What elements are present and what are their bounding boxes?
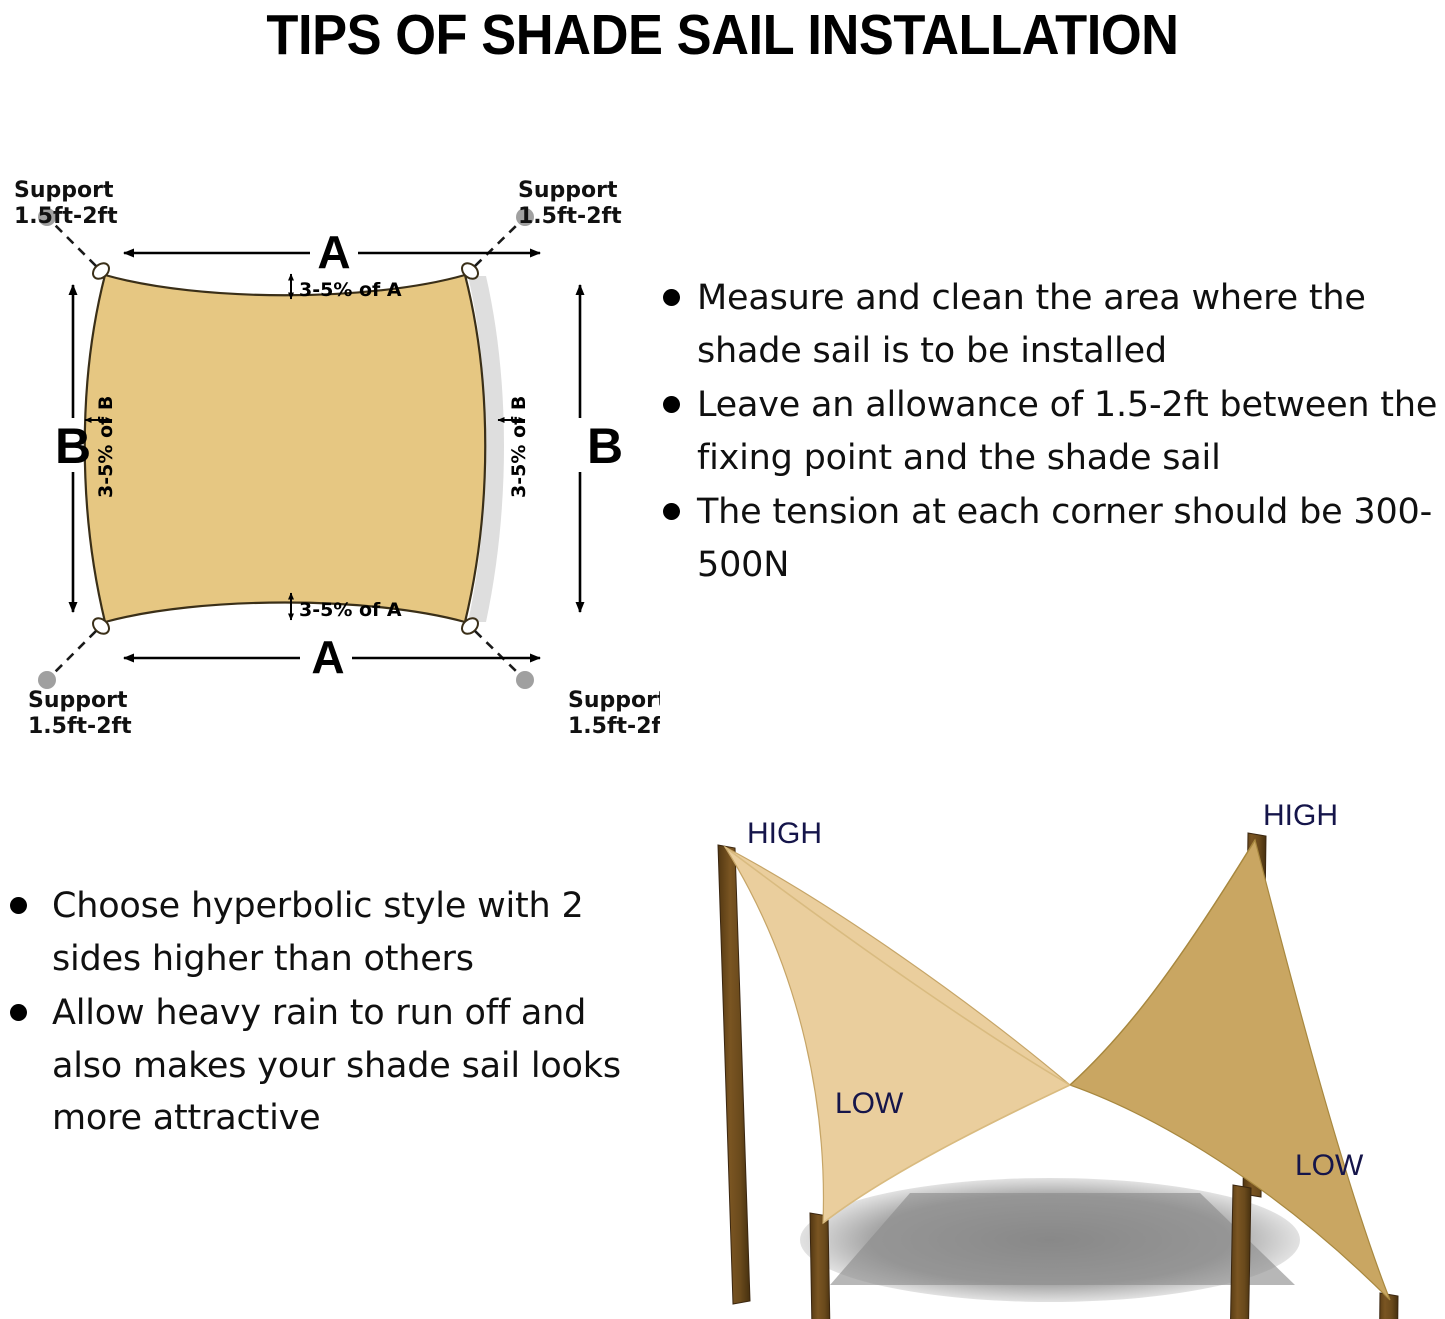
page-title: TIPS OF SHADE SAIL INSTALLATION: [58, 2, 1387, 68]
support-label-top-left-line2: 1.5ft-2ft: [14, 204, 118, 229]
post-mid-right: [1229, 1185, 1251, 1319]
dimension-label-b-left: B: [55, 418, 91, 474]
bullet-dot-icon: [10, 1004, 27, 1021]
list-item: Allow heavy rain to run off and also mak…: [0, 987, 625, 1145]
bullet-dot-icon: [663, 503, 680, 520]
sail-panel-front: [725, 847, 1070, 1223]
support-label-bottom-right-line1: Support: [568, 688, 660, 713]
rectangular-sail-diagram: A A B B 3-5% of A: [0, 150, 660, 740]
list-item-text: Choose hyperbolic style with 2 sides hig…: [52, 886, 584, 979]
tolerance-top: 3-5% of A: [291, 274, 402, 301]
support-label-top-right-line2: 1.5ft-2ft: [518, 204, 622, 229]
list-item: The tension at each corner should be 300…: [645, 486, 1445, 591]
list-item: Choose hyperbolic style with 2 sides hig…: [0, 880, 625, 985]
bullet-dot-icon: [663, 289, 680, 306]
dimension-a-bottom: A: [124, 631, 540, 683]
dimension-label-a-bottom: A: [311, 631, 344, 683]
support-label-bottom-left-line1: Support: [28, 688, 128, 713]
support-label-top-left-line1: Support: [14, 178, 114, 203]
hyperbolic-sail-diagram: HIGH HIGH LOW LOW: [655, 785, 1445, 1319]
support-dot-bottom-left: [38, 671, 56, 689]
dimension-b-left: B: [55, 285, 91, 612]
post-low-left: [810, 1213, 831, 1319]
tolerance-label-top: 3-5% of A: [299, 279, 402, 301]
label-high-right: HIGH: [1263, 799, 1338, 832]
dimension-label-b-right: B: [587, 418, 623, 474]
list-item-text: The tension at each corner should be 300…: [697, 492, 1432, 585]
tolerance-label-right: 3-5% of B: [508, 396, 530, 498]
support-label-bottom-left-line2: 1.5ft-2ft: [28, 714, 132, 739]
bullet-dot-icon: [663, 396, 680, 413]
shade-sail-shape: [85, 275, 486, 622]
installation-tips-list-left: Choose hyperbolic style with 2 sides hig…: [0, 880, 625, 1147]
list-item: Measure and clean the area where the sha…: [645, 272, 1445, 377]
label-low-right: LOW: [1295, 1149, 1364, 1182]
infographic-page: TIPS OF SHADE SAIL INSTALLATION: [0, 0, 1445, 1319]
label-high-left: HIGH: [747, 817, 822, 850]
dimension-b-right: B: [580, 285, 623, 612]
list-item-text: Allow heavy rain to run off and also mak…: [52, 993, 621, 1138]
support-label-bottom-right-line2: 1.5ft-2ft: [568, 714, 660, 739]
bullet-dot-icon: [10, 897, 27, 914]
tolerance-label-left: 3-5% of B: [95, 396, 117, 498]
dimension-label-a-top: A: [317, 226, 350, 278]
support-dot-bottom-right: [516, 671, 534, 689]
tolerance-label-bottom: 3-5% of A: [299, 599, 402, 621]
list-item-text: Leave an allowance of 1.5-2ft between th…: [697, 385, 1437, 478]
label-low-left: LOW: [835, 1087, 904, 1120]
support-label-top-right-line1: Support: [518, 178, 618, 203]
list-item: Leave an allowance of 1.5-2ft between th…: [645, 379, 1445, 484]
list-item-text: Measure and clean the area where the sha…: [697, 278, 1366, 371]
post-high-left: [718, 845, 750, 1304]
installation-tips-list-right: Measure and clean the area where the sha…: [645, 272, 1445, 593]
